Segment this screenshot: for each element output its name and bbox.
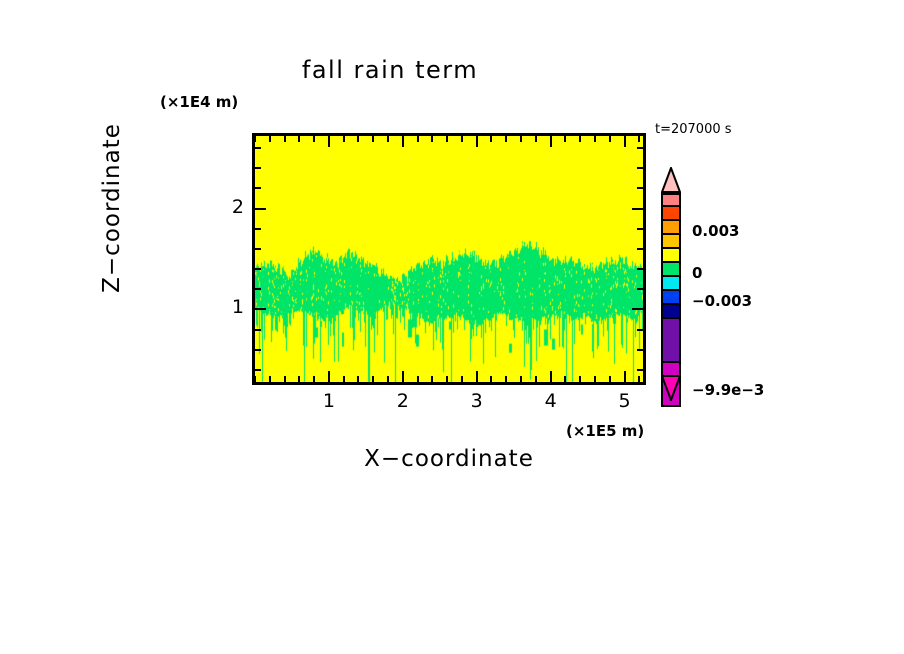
x-major-tick <box>328 371 330 382</box>
y-axis-unit-label: (×1E4 m) <box>160 93 238 111</box>
y-minor-tick-right <box>637 329 643 331</box>
y-minor-tick <box>255 187 261 189</box>
x-minor-tick <box>254 376 256 382</box>
x-tick-label: 2 <box>383 390 423 412</box>
x-tick-label: 5 <box>605 390 645 412</box>
x-minor-tick <box>298 376 300 382</box>
x-minor-tick-top <box>594 136 596 142</box>
y-tick-label: 1 <box>210 296 244 318</box>
x-minor-tick <box>284 376 286 382</box>
x-minor-tick <box>313 376 315 382</box>
y-minor-tick-right <box>637 369 643 371</box>
y-minor-tick <box>255 248 261 250</box>
x-minor-tick <box>461 376 463 382</box>
triangle-up-icon <box>661 167 681 193</box>
y-minor-tick <box>255 167 261 169</box>
y-minor-tick-right <box>637 187 643 189</box>
x-minor-tick-top <box>387 136 389 142</box>
y-minor-tick <box>255 329 261 331</box>
colorbar-band <box>661 249 681 263</box>
x-minor-tick <box>594 376 596 382</box>
x-minor-tick <box>579 376 581 382</box>
x-minor-tick-top <box>298 136 300 142</box>
colorbar-tick-label: −0.003 <box>692 292 752 310</box>
colorbar-band <box>661 235 681 249</box>
x-minor-tick-top <box>446 136 448 142</box>
x-minor-tick-top <box>461 136 463 142</box>
colorbar-band <box>661 291 681 305</box>
x-major-tick <box>624 371 626 382</box>
y-minor-tick-right <box>637 268 643 270</box>
x-minor-tick <box>609 376 611 382</box>
x-minor-tick-top <box>313 136 315 142</box>
x-major-tick-top <box>550 136 552 147</box>
x-minor-tick-top <box>564 136 566 142</box>
x-minor-tick <box>520 376 522 382</box>
colorbar-band <box>661 207 681 221</box>
x-minor-tick <box>490 376 492 382</box>
y-minor-tick <box>255 288 261 290</box>
x-minor-tick-top <box>535 136 537 142</box>
x-major-tick <box>550 371 552 382</box>
y-major-tick <box>255 208 266 210</box>
x-minor-tick-top <box>609 136 611 142</box>
y-minor-tick <box>255 228 261 230</box>
x-minor-tick <box>535 376 537 382</box>
triangle-down-icon <box>661 375 681 401</box>
x-minor-tick-top <box>431 136 433 142</box>
x-minor-tick-top <box>579 136 581 142</box>
y-minor-tick-right <box>637 167 643 169</box>
field-heatmap <box>255 136 643 382</box>
x-minor-tick <box>446 376 448 382</box>
y-minor-tick <box>255 369 261 371</box>
y-major-tick-right <box>632 208 643 210</box>
x-axis-unit-label: (×1E5 m) <box>566 422 644 440</box>
x-tick-label: 3 <box>457 390 497 412</box>
x-major-tick-top <box>402 136 404 147</box>
x-minor-tick <box>505 376 507 382</box>
x-minor-tick-top <box>638 136 640 142</box>
x-minor-tick <box>431 376 433 382</box>
colorbar-top-arrow-icon <box>661 167 681 193</box>
x-major-tick-top <box>624 136 626 147</box>
x-minor-tick <box>343 376 345 382</box>
y-minor-tick <box>255 349 261 351</box>
y-minor-tick-right <box>637 288 643 290</box>
x-minor-tick <box>638 376 640 382</box>
x-minor-tick <box>372 376 374 382</box>
x-minor-tick-top <box>372 136 374 142</box>
y-minor-tick <box>255 268 261 270</box>
y-minor-tick-right <box>637 248 643 250</box>
x-minor-tick <box>269 376 271 382</box>
colorbar-band <box>661 263 681 277</box>
colorbar-tick-label: 0.003 <box>692 222 739 240</box>
y-minor-tick-right <box>637 147 643 149</box>
colorbar-band <box>661 305 681 319</box>
x-axis-title: X−coordinate <box>252 446 646 472</box>
x-major-tick <box>476 371 478 382</box>
y-axis-title: Z−coordinate <box>99 78 125 338</box>
x-minor-tick-top <box>417 136 419 142</box>
y-minor-tick-right <box>637 349 643 351</box>
x-minor-tick <box>357 376 359 382</box>
x-major-tick <box>402 371 404 382</box>
x-major-tick-top <box>328 136 330 147</box>
x-minor-tick-top <box>254 136 256 142</box>
plot-area <box>252 133 646 385</box>
colorbar-band <box>661 319 681 363</box>
y-minor-tick <box>255 147 261 149</box>
x-minor-tick-top <box>343 136 345 142</box>
colorbar-bottom-arrow-icon <box>661 375 681 401</box>
x-minor-tick-top <box>269 136 271 142</box>
x-minor-tick <box>387 376 389 382</box>
timestamp-annotation: t=207000 s <box>655 122 732 137</box>
y-major-tick <box>255 308 266 310</box>
x-major-tick-top <box>476 136 478 147</box>
x-minor-tick <box>564 376 566 382</box>
x-minor-tick <box>417 376 419 382</box>
y-tick-label: 2 <box>210 196 244 218</box>
colorbar-band <box>661 193 681 207</box>
y-major-tick-right <box>632 308 643 310</box>
x-minor-tick-top <box>520 136 522 142</box>
x-tick-label: 4 <box>531 390 571 412</box>
x-minor-tick-top <box>490 136 492 142</box>
colorbar-band <box>661 277 681 291</box>
x-minor-tick-top <box>357 136 359 142</box>
y-minor-tick-right <box>637 228 643 230</box>
colorbar-band <box>661 221 681 235</box>
colorbar-tick-label: 0 <box>692 264 702 282</box>
x-minor-tick-top <box>284 136 286 142</box>
colorbar-tick-label: −9.9e−3 <box>692 381 764 399</box>
x-tick-label: 1 <box>309 390 349 412</box>
x-minor-tick-top <box>505 136 507 142</box>
